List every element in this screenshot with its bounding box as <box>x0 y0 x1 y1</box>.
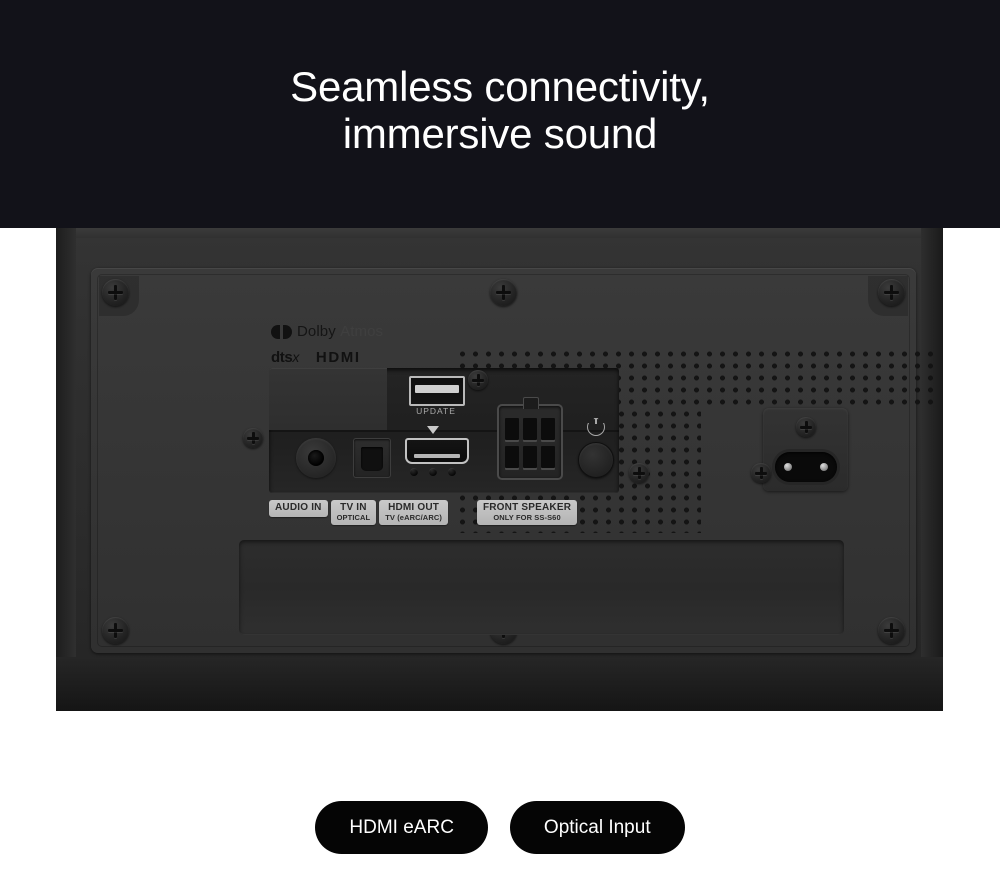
screw-bottom-right <box>878 617 905 644</box>
screw-bottom-left <box>102 617 129 644</box>
screw-bay-left <box>243 428 263 448</box>
audio-in-jack <box>296 438 336 478</box>
ac-socket-figure8 <box>775 452 837 482</box>
screw-top-left <box>102 279 129 306</box>
screw-top-right <box>878 279 905 306</box>
led-indicator <box>448 468 456 476</box>
logo-row-secondary: dtsx HDMI <box>271 349 383 366</box>
label-hdmi-out: HDMI OUT TV (eARC/ARC) <box>379 500 448 525</box>
optical-toslink-port <box>353 438 391 478</box>
soundbar-right-side <box>921 228 943 711</box>
soundbar-left-side <box>56 228 76 711</box>
power-icon <box>587 418 605 436</box>
certification-logos: Dolby Atmos dtsx HDMI <box>271 323 383 366</box>
front-speaker-connector <box>497 404 563 480</box>
hdmi-out-port <box>405 438 469 464</box>
label-tv-in: TV IN OPTICAL <box>331 500 377 525</box>
page-root: Seamless connectivity, immersive sound <box>0 0 1000 887</box>
label-front-speaker: FRONT SPEAKER ONLY FOR SS-S60 <box>477 500 577 525</box>
hdmi-earc-button[interactable]: HDMI eARC <box>315 801 488 854</box>
screw-panel-right <box>751 463 771 483</box>
rear-panel-plate: Dolby Atmos dtsx HDMI <box>91 268 916 653</box>
product-image-soundbar-rear: Dolby Atmos dtsx HDMI <box>56 228 943 711</box>
hero-banner: Seamless connectivity, immersive sound <box>0 0 1000 228</box>
screw-top-center <box>490 279 517 306</box>
speaker-pin <box>523 418 537 442</box>
led-indicator <box>429 468 437 476</box>
feature-button-group: HDMI eARC Optical Input <box>0 801 1000 854</box>
dolby-atmos-logo: Dolby Atmos <box>271 323 383 340</box>
hdmi-orientation-triangle-icon <box>427 426 439 434</box>
screw-ac-inlet <box>796 417 816 437</box>
io-recess-bay: UPDATE <box>269 368 619 493</box>
speaker-pin <box>505 446 519 470</box>
label-audio-in: AUDIO IN <box>269 500 328 517</box>
dolby-logo-text: Dolby Atmos <box>297 323 383 340</box>
port-label-strip: AUDIO IN TV IN OPTICAL HDMI OUT TV (eARC… <box>269 500 577 525</box>
bay-divider-lip <box>269 430 619 432</box>
power-button[interactable] <box>578 442 614 478</box>
screw-bay-center <box>468 370 488 390</box>
dolby-double-d-icon <box>271 325 292 339</box>
led-indicator <box>410 468 418 476</box>
speaker-connector-notch <box>523 397 539 409</box>
ac-power-inlet <box>763 408 848 491</box>
dts-x-logo: dtsx <box>271 349 299 366</box>
usb-update-port <box>409 376 465 406</box>
usb-update-label: UPDATE <box>403 406 469 416</box>
page-title: Seamless connectivity, immersive sound <box>250 63 750 157</box>
speaker-pin <box>523 446 537 470</box>
speaker-pin-grid <box>505 418 555 470</box>
optical-input-button[interactable]: Optical Input <box>510 801 685 854</box>
speaker-pin <box>541 446 555 470</box>
soundbar-top-edge <box>56 228 943 238</box>
hdmi-logo: HDMI <box>316 349 361 366</box>
status-led-group <box>410 468 456 476</box>
speaker-pin <box>541 418 555 442</box>
speaker-pin <box>505 418 519 442</box>
screw-bay-right <box>629 463 649 483</box>
soundbar-bottom-plinth <box>56 657 943 711</box>
lower-recessed-panel <box>239 540 844 635</box>
bay-upper-shelf <box>269 368 387 430</box>
